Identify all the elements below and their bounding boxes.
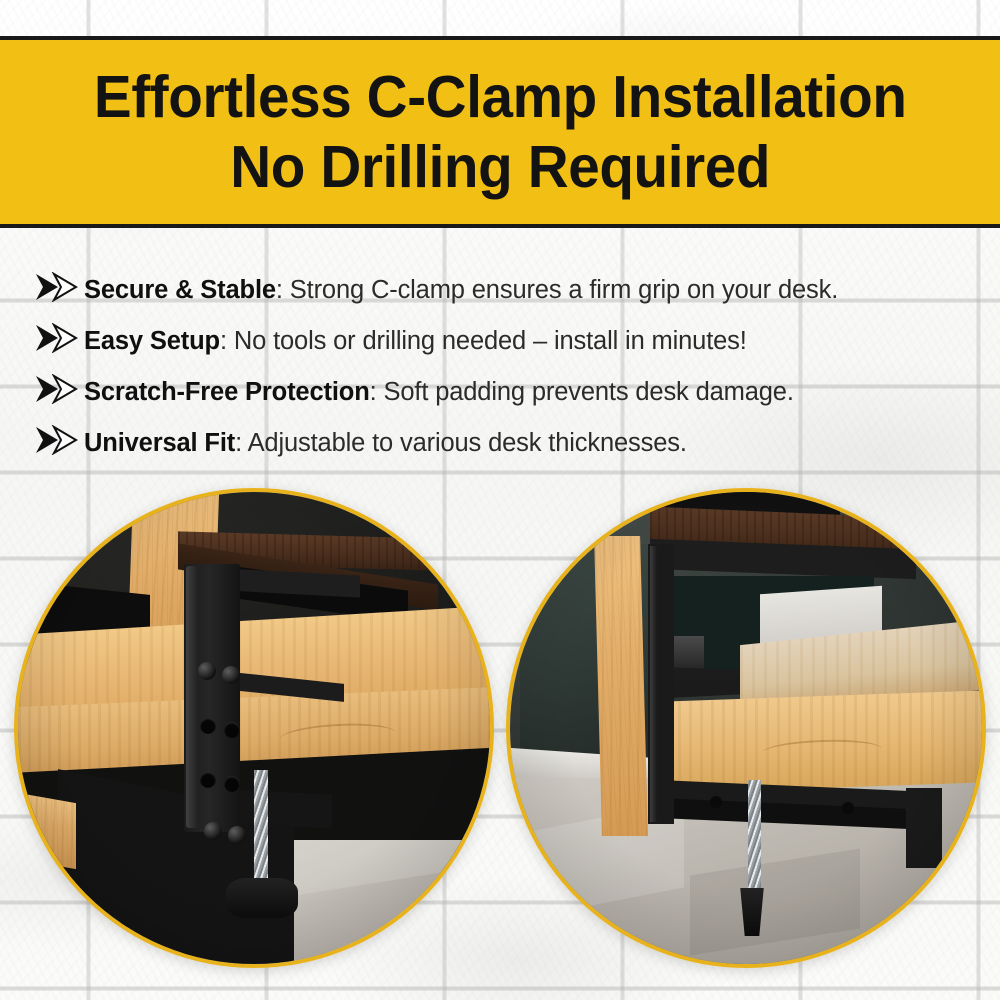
desk-leg [906,788,942,868]
clamp-thumb-screw-rod [748,780,761,900]
feature-text: Universal Fit: Adjustable to various des… [84,428,687,458]
double-chevron-icon [34,272,80,302]
product-photo-left [14,488,494,968]
clamp-thumb-screw-rod [254,770,268,886]
product-infographic: Effortless C-Clamp Installation No Drill… [0,0,1000,1000]
clamp-adjustment-hole [710,796,722,808]
feature-label: Scratch-Free Protection [84,378,370,406]
feature-text: Easy Setup: No tools or drilling needed … [84,326,747,356]
product-photo-right [506,488,986,968]
clamp-adjustment-hole [842,802,854,814]
feature-separator: : [235,429,247,457]
double-chevron-icon [34,425,80,455]
clamp-lower-arm [232,789,332,828]
feature-item-universal-fit: Universal Fit: Adjustable to various des… [34,421,974,472]
clamp-adjustment-hole [200,718,216,734]
feature-item-scratch-free-protection: Scratch-Free Protection: Soft padding pr… [34,370,974,421]
clamp-adjustment-hole [224,776,240,792]
wood-post [594,536,648,836]
clamp-bolt [222,666,240,684]
clamp-bolt [198,662,216,680]
clamp-front-view-scene [18,492,490,964]
clamp-bolt [228,826,246,844]
headline-line-2: No Drilling Required [230,132,770,202]
feature-separator: : [276,276,290,304]
feature-item-secure-stable: Secure & Stable: Strong C-clamp ensures … [34,268,974,319]
double-chevron-icon [34,374,80,404]
feature-description: Adjustable to various desk thicknesses. [248,429,687,457]
feature-description: Soft padding prevents desk damage. [384,378,794,406]
double-chevron-icon [34,323,80,353]
feature-description: No tools or drilling needed – install in… [234,327,747,355]
clamp-column-highlight [186,566,198,828]
feature-label: Universal Fit [84,429,235,457]
clamp-screw-pad [226,878,298,918]
feature-description: Strong C-clamp ensures a firm grip on yo… [290,276,838,304]
feature-separator: : [370,378,384,406]
wood-leg-detail [18,793,76,869]
feature-separator: : [220,327,234,355]
feature-label: Secure & Stable [84,276,276,304]
feature-text: Scratch-Free Protection: Soft padding pr… [84,377,794,407]
clamp-bolt [204,822,222,840]
feature-item-easy-setup: Easy Setup: No tools or drilling needed … [34,319,974,370]
headline-banner: Effortless C-Clamp Installation No Drill… [0,36,1000,228]
clamp-side-view-scene [510,492,982,964]
clamp-adjustment-hole [200,772,216,788]
headline-line-1: Effortless C-Clamp Installation [94,62,907,132]
clamp-adjustment-hole [224,722,240,738]
feature-list: Secure & Stable: Strong C-clamp ensures … [34,268,974,472]
feature-label: Easy Setup [84,327,220,355]
clamp-column-highlight [650,546,657,822]
feature-text: Secure & Stable: Strong C-clamp ensures … [84,275,838,305]
